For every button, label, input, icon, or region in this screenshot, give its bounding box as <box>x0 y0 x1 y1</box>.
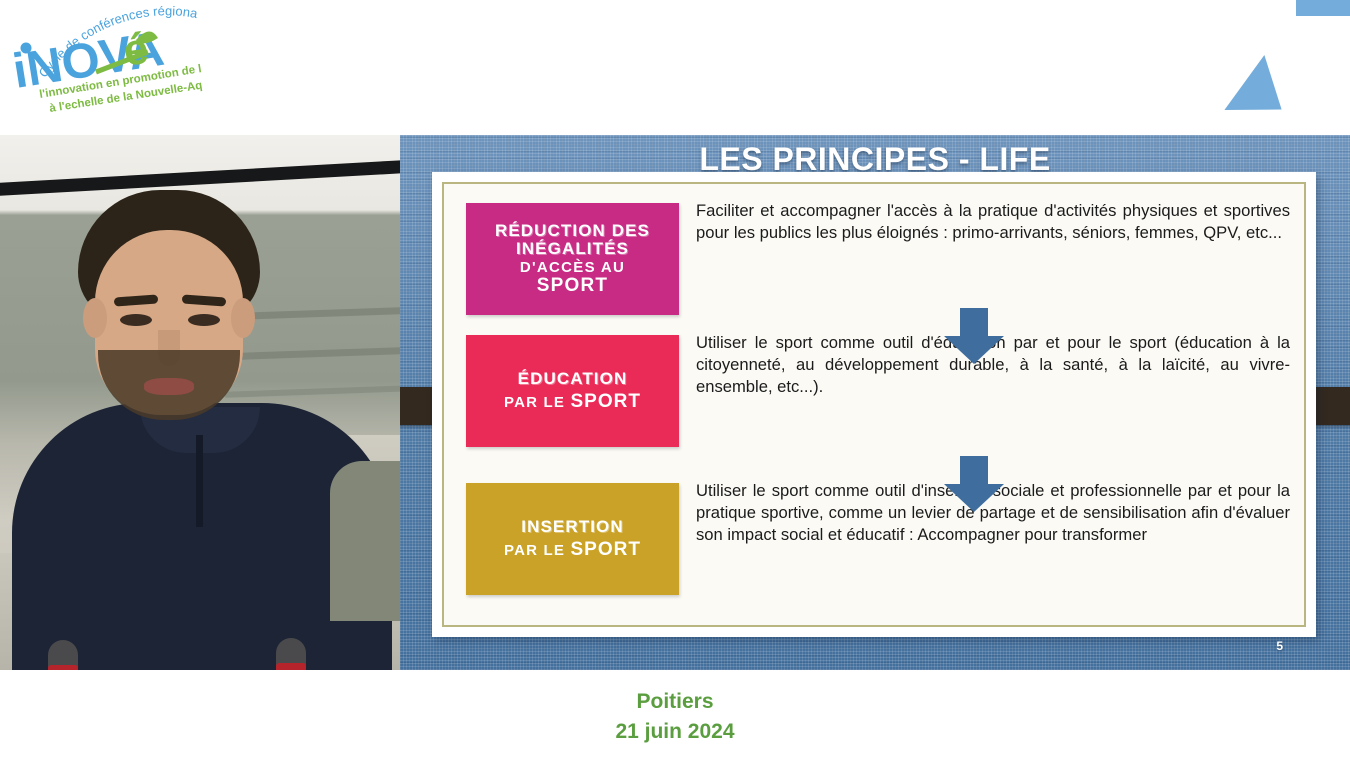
principle-description: Faciliter et accompagner l'accès à la pr… <box>679 194 1296 244</box>
chip-line-4: SPORT <box>537 276 608 295</box>
principle-chip-insertion-par-le-sport[interactable]: INSERTION PAR LE SPORT <box>466 483 679 595</box>
microphone-right-ring <box>276 663 306 670</box>
chip-line-inline: PAR LE SPORT <box>504 540 641 559</box>
speaker-ear-right <box>231 298 255 338</box>
speaker-background-person <box>330 461 400 621</box>
slide-number: 5 <box>1276 639 1283 653</box>
chip-line-1: ÉDUCATION <box>518 370 628 387</box>
principle-row: INSERTION PAR LE SPORT Utiliser le sport… <box>466 474 1296 624</box>
principle-chip-reduction-inegalites[interactable]: RÉDUCTION DES INÉGALITÉS D'ACCÈS AU SPOR… <box>466 203 679 315</box>
speaker-ear-left <box>83 298 107 338</box>
speaker-head <box>78 190 260 422</box>
chip-line-4: SPORT <box>571 391 641 412</box>
principle-row: ÉDUCATION PAR LE SPORT Utiliser le sport… <box>466 326 1296 474</box>
principle-chip-education-par-le-sport[interactable]: ÉDUCATION PAR LE SPORT <box>466 335 679 447</box>
principles-list: RÉDUCTION DES INÉGALITÉS D'ACCÈS AU SPOR… <box>466 194 1296 619</box>
event-date: 21 juin 2024 <box>615 717 734 747</box>
presentation-stage: Cycle de conférences régionales iNOVA é … <box>0 0 1350 761</box>
event-footer: Poitiers 21 juin 2024 <box>0 672 1350 761</box>
decorative-corner-fill <box>1296 0 1350 16</box>
chip-line-2: INÉGALITÉS <box>516 240 629 257</box>
chip-line-3: PAR LE <box>504 394 565 411</box>
microphone-left-ring <box>48 665 78 670</box>
chip-line-3: D'ACCÈS AU <box>520 260 625 275</box>
speaker-video-feed[interactable] <box>0 135 400 670</box>
presentation-slide: LES PRINCIPES - LIFE RÉDUCTION DES INÉGA… <box>400 135 1350 670</box>
slide-tab-right <box>1313 387 1350 425</box>
down-arrow-icon <box>944 308 1004 364</box>
chip-line-1: RÉDUCTION DES <box>495 222 650 239</box>
event-city: Poitiers <box>636 687 713 717</box>
principle-row: RÉDUCTION DES INÉGALITÉS D'ACCÈS AU SPOR… <box>466 194 1296 326</box>
speaker-mouth <box>144 378 194 395</box>
chip-line-inline: PAR LE SPORT <box>504 392 641 411</box>
chip-line-3: PAR LE <box>504 542 565 559</box>
inova-e-logo: Cycle de conférences régionales iNOVA é … <box>14 6 344 124</box>
speaker-eye-left <box>120 314 152 326</box>
slide-content-panel-border: RÉDUCTION DES INÉGALITÉS D'ACCÈS AU SPOR… <box>442 182 1306 627</box>
down-arrow-icon <box>944 456 1004 512</box>
chip-line-4: SPORT <box>571 539 641 560</box>
slide-content-panel: RÉDUCTION DES INÉGALITÉS D'ACCÈS AU SPOR… <box>432 172 1316 637</box>
chip-line-1: INSERTION <box>521 518 623 535</box>
speaker-polo-placket <box>196 435 203 527</box>
speaker-eye-right <box>188 314 220 326</box>
